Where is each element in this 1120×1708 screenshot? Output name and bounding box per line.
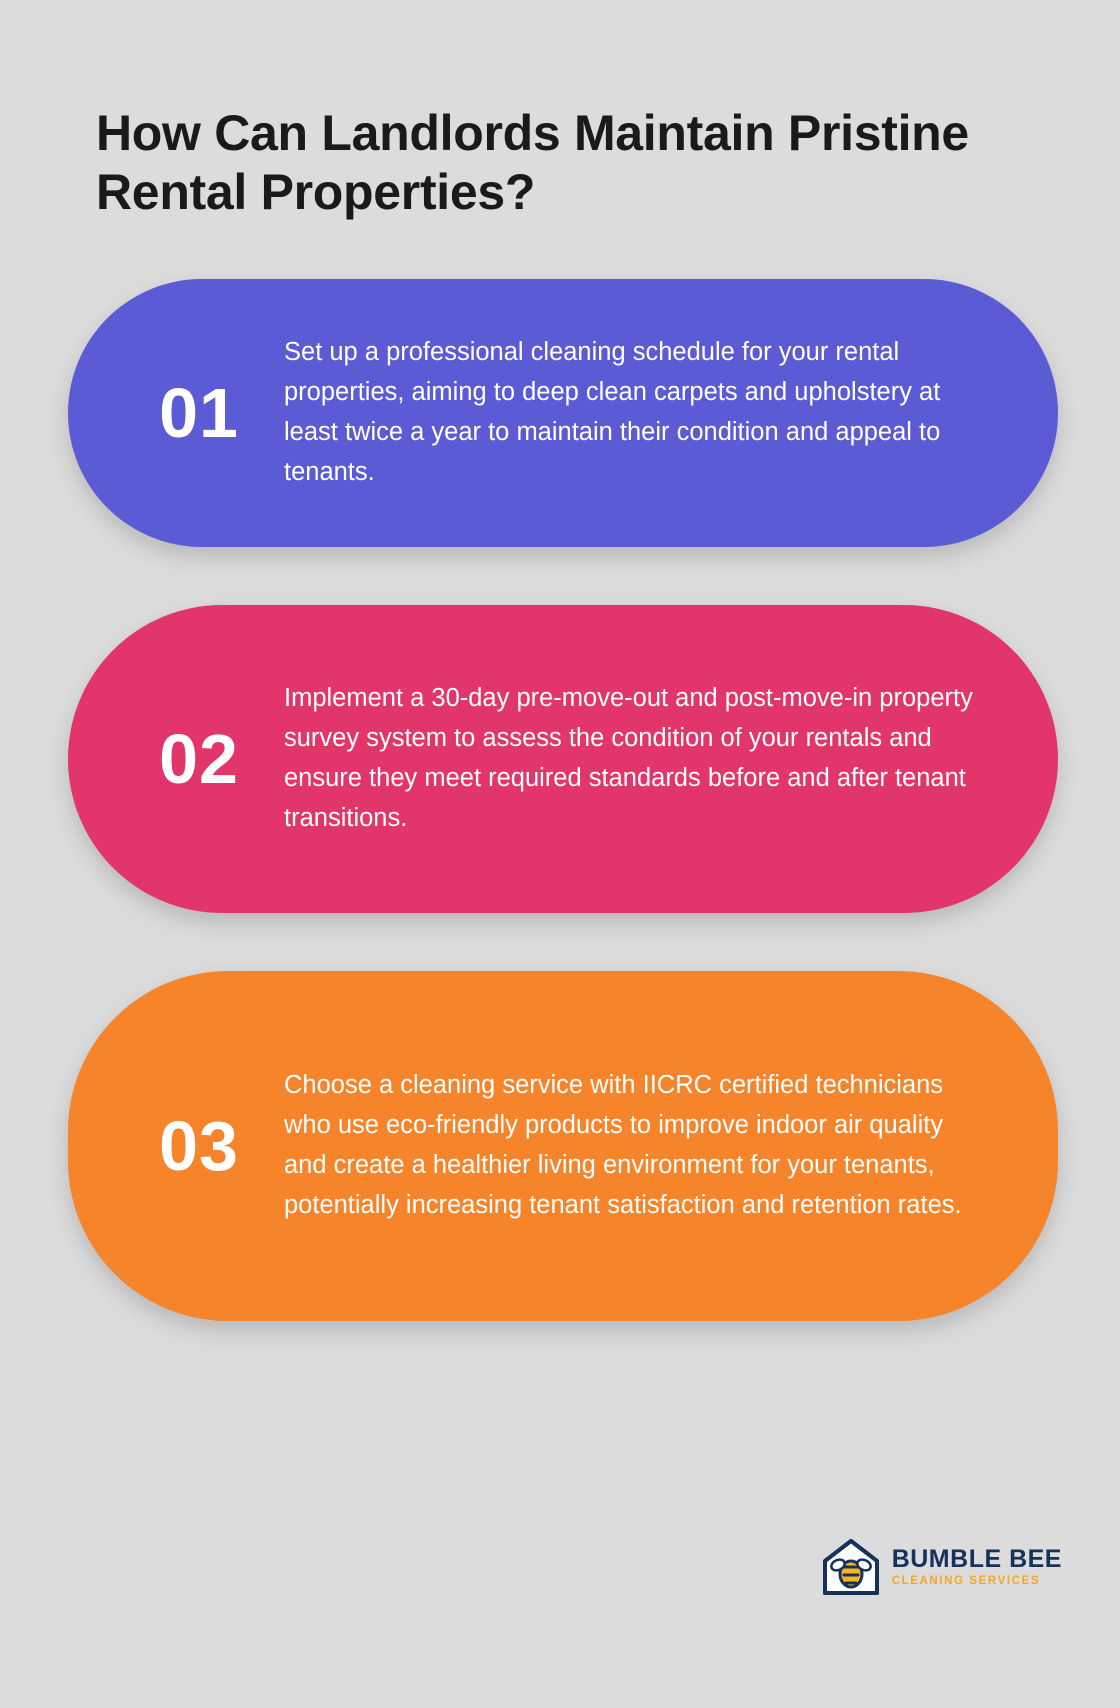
card-list: 01 Set up a professional cleaning schedu… (0, 279, 1120, 1321)
card-text: Implement a 30-day pre-move-out and post… (284, 679, 994, 838)
infographic-page: How Can Landlords Maintain Pristine Rent… (0, 0, 1120, 1708)
page-title: How Can Landlords Maintain Pristine Rent… (0, 0, 1120, 221)
logo-subtitle: CLEANING SERVICES (892, 1576, 1062, 1588)
list-item: 01 Set up a professional cleaning schedu… (68, 279, 1058, 547)
list-item: 02 Implement a 30-day pre-move-out and p… (68, 605, 1058, 913)
card-text: Set up a professional cleaning schedule … (284, 333, 994, 492)
brand-logo: BUMBLE BEE CLEANING SERVICES (820, 1536, 1062, 1598)
bee-house-icon (820, 1536, 882, 1598)
list-item: 03 Choose a cleaning service with IICRC … (68, 971, 1058, 1321)
logo-text: BUMBLE BEE CLEANING SERVICES (892, 1547, 1062, 1588)
card-number: 03 (114, 1111, 284, 1181)
card-text: Choose a cleaning service with IICRC cer… (284, 1066, 994, 1225)
card-number: 02 (114, 724, 284, 794)
logo-name: BUMBLE BEE (892, 1547, 1062, 1572)
card-number: 01 (114, 378, 284, 448)
